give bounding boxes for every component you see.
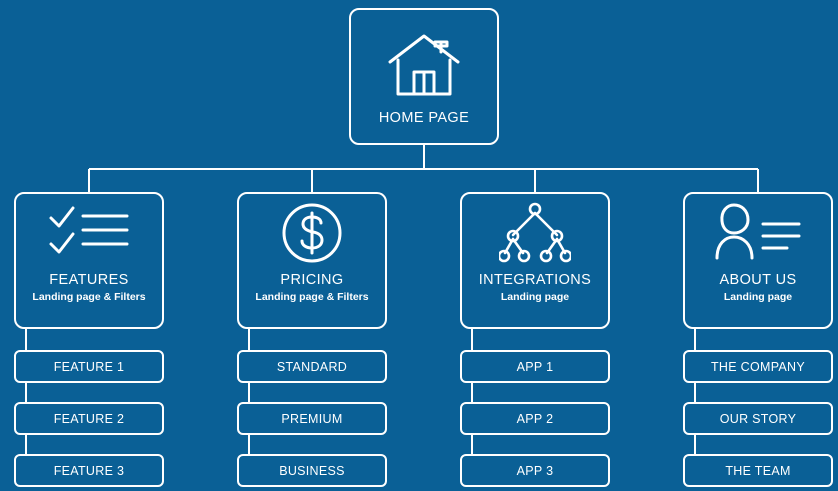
network-tree-icon bbox=[462, 194, 608, 272]
node-subtitle: Landing page & Filters bbox=[255, 291, 368, 303]
node-title: PRICING bbox=[280, 272, 343, 288]
node-title: HOME PAGE bbox=[379, 110, 469, 126]
node-subtitle: Landing page bbox=[724, 291, 792, 303]
node-title: FEATURE 3 bbox=[54, 464, 125, 478]
node-features[interactable]: FEATURES Landing page & Filters bbox=[14, 192, 164, 329]
node-standard[interactable]: STANDARD bbox=[237, 350, 387, 383]
node-title: PREMIUM bbox=[281, 412, 342, 426]
node-app-3[interactable]: APP 3 bbox=[460, 454, 610, 487]
person-profile-icon bbox=[685, 194, 831, 272]
node-premium[interactable]: PREMIUM bbox=[237, 402, 387, 435]
node-app-1[interactable]: APP 1 bbox=[460, 350, 610, 383]
node-title: APP 3 bbox=[517, 464, 554, 478]
node-title: OUR STORY bbox=[720, 412, 797, 426]
dollar-circle-icon bbox=[239, 194, 385, 272]
node-title: FEATURE 1 bbox=[54, 360, 125, 374]
node-business[interactable]: BUSINESS bbox=[237, 454, 387, 487]
node-title: APP 1 bbox=[517, 360, 554, 374]
node-the-team[interactable]: THE TEAM bbox=[683, 454, 833, 487]
sitemap-diagram: HOME PAGE FEATURES Landing page & Filter… bbox=[0, 0, 838, 491]
node-app-2[interactable]: APP 2 bbox=[460, 402, 610, 435]
node-title: INTEGRATIONS bbox=[479, 272, 591, 288]
checklist-icon bbox=[16, 194, 162, 272]
node-subtitle: Landing page bbox=[501, 291, 569, 303]
node-pricing[interactable]: PRICING Landing page & Filters bbox=[237, 192, 387, 329]
node-feature-1[interactable]: FEATURE 1 bbox=[14, 350, 164, 383]
node-title: THE TEAM bbox=[725, 464, 790, 478]
node-feature-3[interactable]: FEATURE 3 bbox=[14, 454, 164, 487]
node-about-us[interactable]: ABOUT US Landing page bbox=[683, 192, 833, 329]
node-title: ABOUT US bbox=[719, 272, 796, 288]
node-title: FEATURE 2 bbox=[54, 412, 125, 426]
node-title: FEATURES bbox=[49, 272, 128, 288]
node-feature-2[interactable]: FEATURE 2 bbox=[14, 402, 164, 435]
node-title: THE COMPANY bbox=[711, 360, 805, 374]
house-icon bbox=[384, 32, 464, 98]
node-the-company[interactable]: THE COMPANY bbox=[683, 350, 833, 383]
node-home-page[interactable]: HOME PAGE bbox=[349, 8, 499, 145]
node-subtitle: Landing page & Filters bbox=[32, 291, 145, 303]
node-title: STANDARD bbox=[277, 360, 347, 374]
node-title: APP 2 bbox=[517, 412, 554, 426]
node-our-story[interactable]: OUR STORY bbox=[683, 402, 833, 435]
node-integrations[interactable]: INTEGRATIONS Landing page bbox=[460, 192, 610, 329]
node-title: BUSINESS bbox=[279, 464, 345, 478]
